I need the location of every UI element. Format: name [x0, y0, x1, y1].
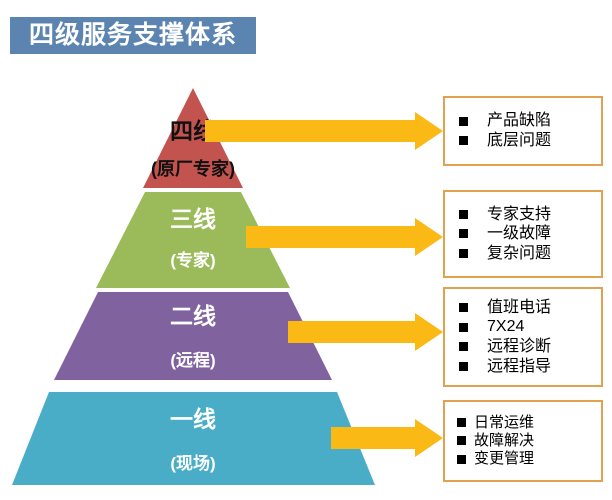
arrow-right-icon-tier-4: [205, 112, 443, 150]
list-item: 值班电话: [459, 298, 601, 318]
diagram-canvas: 四级服务支撑体系 四线 (原厂专家) 三线 (专家) 二线 (远程) 一线 (现…: [0, 0, 612, 500]
arrow-right-icon-tier-1: [331, 419, 443, 457]
list-item-label: 产品缺陷: [487, 111, 551, 131]
arrow-right-icon-tier-3: [246, 218, 443, 256]
square-bullet-icon: [459, 323, 468, 332]
list-item-label: 底层问题: [487, 131, 551, 151]
list-item-label: 变更管理: [474, 450, 534, 468]
list-item: 底层问题: [459, 131, 601, 151]
list-item-label: 专家支持: [487, 205, 551, 225]
tier-1-main-label: 一线: [0, 408, 386, 431]
tier-2-sub-label: (远程): [0, 352, 386, 369]
list-item: 产品缺陷: [459, 111, 601, 131]
square-bullet-icon: [459, 210, 468, 219]
square-bullet-icon: [459, 117, 468, 126]
info-box-tier-4: 产品缺陷 底层问题: [443, 96, 603, 166]
list-item: 日常运维: [457, 414, 601, 432]
info-box-tier-3: 专家支持 一级故障 复杂问题: [443, 190, 603, 278]
list-item-label: 一级故障: [487, 224, 551, 244]
list-item-label: 远程诊断: [487, 337, 551, 357]
square-bullet-icon: [459, 229, 468, 238]
tier-1-sub-label: (现场): [0, 455, 386, 472]
list-item: 远程诊断: [459, 337, 601, 357]
square-bullet-icon: [459, 303, 468, 312]
list-item-label: 值班电话: [487, 298, 551, 318]
list-item-label: 远程指导: [487, 357, 551, 377]
square-bullet-icon: [457, 436, 466, 445]
info-box-tier-1: 日常运维 故障解决 变更管理: [443, 400, 603, 482]
square-bullet-icon: [459, 136, 468, 145]
info-box-tier-2: 值班电话 7X24 远程诊断 远程指导: [443, 287, 603, 387]
list-item-label: 复杂问题: [487, 244, 551, 264]
square-bullet-icon: [459, 342, 468, 351]
list-item: 7X24: [459, 317, 601, 337]
square-bullet-icon: [459, 249, 468, 258]
list-item: 复杂问题: [459, 244, 601, 264]
list-item: 变更管理: [457, 450, 601, 468]
list-item: 一级故障: [459, 224, 601, 244]
list-item: 专家支持: [459, 205, 601, 225]
square-bullet-icon: [457, 455, 466, 464]
list-item: 故障解决: [457, 432, 601, 450]
square-bullet-icon: [459, 362, 468, 371]
list-item-label: 日常运维: [474, 414, 534, 432]
tier-4-sub-label: (原厂专家): [0, 160, 386, 178]
arrow-right-icon-tier-2: [288, 313, 443, 351]
list-item-label: 故障解决: [474, 432, 534, 450]
list-item: 远程指导: [459, 357, 601, 377]
list-item-label: 7X24: [487, 317, 524, 337]
square-bullet-icon: [457, 418, 466, 427]
